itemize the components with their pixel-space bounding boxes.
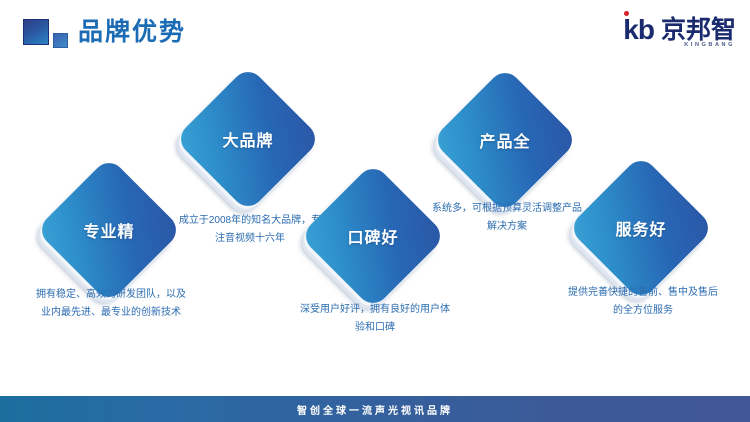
advantage-caption-3: 深受用户好评，拥有良好的用户体验和口碑	[300, 301, 450, 337]
advantage-diamond-3[interactable]: 口碑好	[321, 184, 425, 288]
advantage-diamond-2[interactable]: 大品牌	[196, 87, 300, 191]
logo-mark-kb: kb	[623, 16, 654, 44]
advantage-label-1: 专业精	[57, 178, 161, 282]
advantage-caption-4: 系统多，可根据预算灵活调整产品解决方案	[432, 200, 582, 236]
advantage-label-2: 大品牌	[196, 87, 300, 191]
advantage-label-5: 服务好	[589, 176, 693, 280]
advantage-diamond-5[interactable]: 服务好	[589, 176, 693, 280]
logo-mark-text: kb	[623, 16, 654, 44]
brand-logo: kb 京邦智 KINGBANG	[623, 13, 736, 47]
slide-canvas: 品牌优势 kb 京邦智 KINGBANG 专业精 拥有稳定、高效的研发团队，以及…	[0, 0, 750, 422]
advantage-label-4: 产品全	[453, 88, 557, 192]
advantage-label-3: 口碑好	[321, 184, 425, 288]
logo-english-name: KINGBANG	[684, 43, 735, 49]
advantage-caption-1: 拥有稳定、高效的研发团队，以及业内最先进、最专业的创新技术	[36, 286, 186, 322]
square-gradient-large-icon	[23, 19, 49, 45]
slide-footer: 智创全球一流声光视讯品牌	[0, 396, 750, 422]
advantage-diamond-1[interactable]: 专业精	[57, 178, 161, 282]
square-gradient-small-icon	[53, 33, 68, 48]
footer-slogan: 智创全球一流声光视讯品牌	[297, 402, 453, 417]
logo-chinese-name: 京邦智	[661, 18, 736, 43]
advantage-diamond-4[interactable]: 产品全	[453, 88, 557, 192]
page-title: 品牌优势	[78, 16, 186, 48]
advantage-caption-5: 提供完善快捷的售前、售中及售后的全方位服务	[568, 284, 718, 320]
